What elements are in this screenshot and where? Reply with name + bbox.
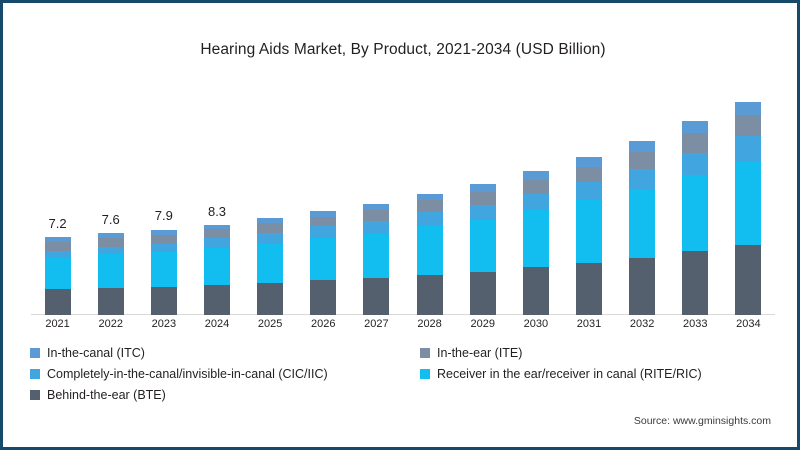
legend-item-ite[interactable]: In-the-ear (ITE) xyxy=(420,346,522,360)
x-tick-label: 2032 xyxy=(630,318,654,330)
legend-label: In-the-canal (ITC) xyxy=(47,346,145,360)
bar-segment xyxy=(629,152,655,169)
bar-segment xyxy=(576,263,602,315)
bar-segment xyxy=(523,180,549,194)
chart-frame: Hearing Aids Market, By Product, 2021-20… xyxy=(0,0,800,450)
legend-swatch-icon xyxy=(30,390,40,400)
bar-segment xyxy=(417,212,443,226)
stacked-bar xyxy=(470,184,496,315)
bar-segment xyxy=(45,258,71,289)
bar-value-label: 8.3 xyxy=(208,204,226,219)
x-tick-label: 2033 xyxy=(683,318,707,330)
bar-segment xyxy=(45,289,71,315)
bar-column[interactable] xyxy=(523,171,549,315)
legend-item-rite[interactable]: Receiver in the ear/receiver in canal (R… xyxy=(420,367,702,381)
bar-segment xyxy=(523,194,549,210)
bar-segment xyxy=(576,182,602,200)
bar-column[interactable] xyxy=(257,218,283,315)
legend-swatch-icon xyxy=(30,369,40,379)
bar-segment xyxy=(470,205,496,220)
chart-title: Hearing Aids Market, By Product, 2021-20… xyxy=(3,41,800,59)
bar-segment xyxy=(363,210,389,221)
bar-segment xyxy=(98,247,124,255)
bar-segment xyxy=(204,248,230,285)
legend-item-cic[interactable]: Completely-in-the-canal/invisible-in-can… xyxy=(30,367,420,381)
bar-segment xyxy=(151,252,177,287)
x-tick-label: 2028 xyxy=(417,318,441,330)
bar-column[interactable] xyxy=(629,141,655,315)
bar-segment xyxy=(98,254,124,288)
bar-segment xyxy=(363,221,389,234)
bar-segment xyxy=(417,226,443,275)
bar-segment xyxy=(310,280,336,315)
source-note: Source: www.gminsights.com xyxy=(634,415,771,427)
x-tick-label: 2029 xyxy=(470,318,494,330)
stacked-bar xyxy=(735,102,761,315)
legend-swatch-icon xyxy=(420,348,430,358)
bar-segment xyxy=(257,223,283,233)
bar-segment xyxy=(576,157,602,167)
stacked-bar xyxy=(417,194,443,315)
legend-label: In-the-ear (ITE) xyxy=(437,346,522,360)
bar-segment xyxy=(257,244,283,283)
legend-label: Behind-the-ear (BTE) xyxy=(47,388,166,402)
bar-segment xyxy=(470,272,496,315)
bar-value-label: 7.6 xyxy=(102,212,120,227)
bar-segment xyxy=(523,171,549,180)
x-tick-label: 2026 xyxy=(311,318,335,330)
bar-segment xyxy=(576,200,602,263)
bar-column[interactable] xyxy=(45,237,71,315)
legend-row: Behind-the-ear (BTE) xyxy=(30,388,776,402)
bar-segment xyxy=(682,121,708,133)
stacked-bar xyxy=(523,171,549,315)
bar-segment xyxy=(151,235,177,244)
bar-column[interactable] xyxy=(576,157,602,315)
legend-item-bte[interactable]: Behind-the-ear (BTE) xyxy=(30,388,420,402)
bar-segment xyxy=(204,229,230,238)
plot-area: 7.27.67.98.3 xyxy=(31,93,775,315)
x-tick-label: 2031 xyxy=(577,318,601,330)
bar-segment xyxy=(735,136,761,161)
bar-column[interactable] xyxy=(310,211,336,315)
bar-column[interactable] xyxy=(470,184,496,315)
legend-item-itc[interactable]: In-the-canal (ITC) xyxy=(30,346,420,360)
stacked-bar xyxy=(204,225,230,315)
bar-segment xyxy=(310,226,336,238)
bar-segment xyxy=(45,242,71,251)
bar-segment xyxy=(257,233,283,244)
bar-segment xyxy=(523,267,549,315)
x-tick-label: 2034 xyxy=(736,318,760,330)
stacked-bar xyxy=(45,237,71,315)
bar-segment xyxy=(151,244,177,253)
bar-segment xyxy=(151,287,177,315)
bar-column[interactable] xyxy=(417,194,443,315)
bar-segment xyxy=(682,153,708,176)
x-tick-label: 2024 xyxy=(205,318,229,330)
bar-value-label: 7.9 xyxy=(155,208,173,223)
stacked-bar xyxy=(363,203,389,315)
x-axis-tick-labels: 2021202220232024202520262027202820292030… xyxy=(31,318,775,336)
x-tick-label: 2021 xyxy=(45,318,69,330)
axis-baseline xyxy=(31,314,775,315)
bar-segment xyxy=(257,283,283,315)
legend-label: Receiver in the ear/receiver in canal (R… xyxy=(437,367,702,381)
legend-swatch-icon xyxy=(30,348,40,358)
bar-segment xyxy=(735,115,761,137)
x-tick-label: 2023 xyxy=(152,318,176,330)
bar-segment xyxy=(417,200,443,212)
bar-segment xyxy=(682,251,708,315)
bar-segment xyxy=(98,238,124,247)
bar-segment xyxy=(204,238,230,248)
bar-segment xyxy=(576,167,602,182)
legend-label: Completely-in-the-canal/invisible-in-can… xyxy=(47,367,328,381)
bar-column[interactable] xyxy=(98,233,124,315)
stacked-bar xyxy=(682,121,708,315)
bar-segment xyxy=(204,285,230,315)
x-tick-label: 2022 xyxy=(98,318,122,330)
bar-column[interactable] xyxy=(682,121,708,315)
bar-segment xyxy=(735,161,761,244)
x-tick-label: 2030 xyxy=(524,318,548,330)
chart-legend: In-the-canal (ITC)In-the-ear (ITE)Comple… xyxy=(30,346,776,409)
bar-segment xyxy=(310,217,336,227)
bar-segment xyxy=(470,184,496,192)
bar-segment xyxy=(682,133,708,152)
x-tick-label: 2025 xyxy=(258,318,282,330)
bar-segment xyxy=(363,234,389,278)
bar-segment xyxy=(629,169,655,190)
bar-column[interactable] xyxy=(204,225,230,315)
bar-segment xyxy=(470,192,496,205)
stacked-bar xyxy=(151,229,177,315)
bar-value-label: 7.2 xyxy=(49,216,67,231)
bar-segment xyxy=(417,275,443,315)
legend-row: Completely-in-the-canal/invisible-in-can… xyxy=(30,367,776,381)
bar-segment xyxy=(98,288,124,315)
bar-segment xyxy=(470,220,496,272)
bar-column[interactable] xyxy=(151,229,177,315)
legend-swatch-icon xyxy=(420,369,430,379)
bar-column[interactable] xyxy=(363,203,389,315)
bar-segment xyxy=(735,245,761,315)
bar-segment xyxy=(682,175,708,251)
bar-segment xyxy=(523,210,549,267)
stacked-bar xyxy=(310,211,336,315)
bar-segment xyxy=(735,102,761,115)
bar-segment xyxy=(363,278,389,315)
stacked-bar xyxy=(98,233,124,315)
bar-segment xyxy=(629,258,655,315)
bar-column[interactable] xyxy=(735,102,761,315)
bar-segment xyxy=(629,141,655,152)
x-tick-label: 2027 xyxy=(364,318,388,330)
stacked-bar xyxy=(576,157,602,315)
stacked-bar xyxy=(257,218,283,315)
bar-segment xyxy=(310,238,336,280)
stacked-bar xyxy=(629,141,655,315)
bar-segment xyxy=(629,189,655,257)
legend-row: In-the-canal (ITC)In-the-ear (ITE) xyxy=(30,346,776,360)
